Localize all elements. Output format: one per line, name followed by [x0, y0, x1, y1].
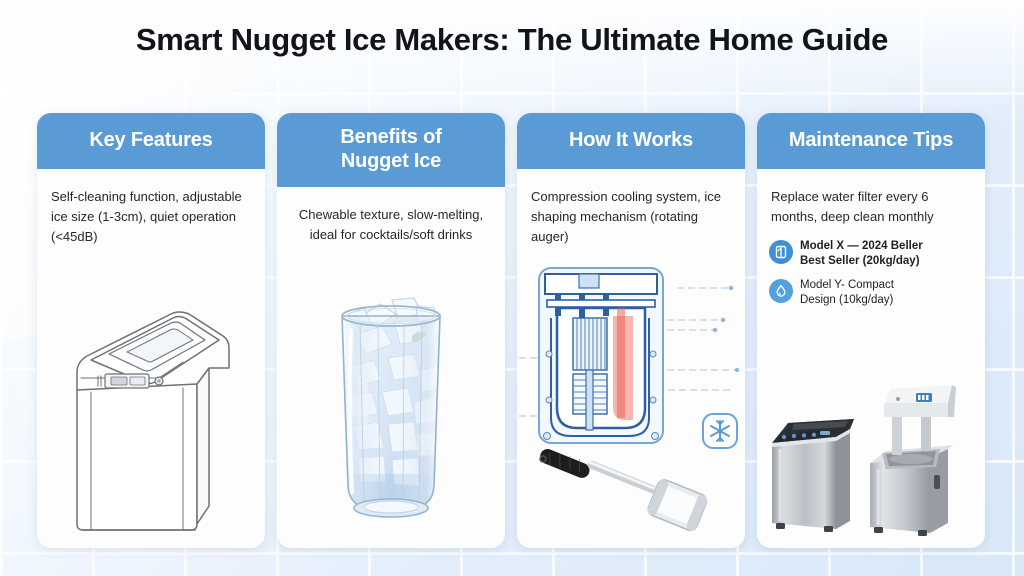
page-title: Smart Nugget Ice Makers: The Ultimate Ho… — [0, 22, 1024, 58]
model-y-text: Model Y- Compact Design (10kg/day) — [800, 278, 894, 308]
unit-model-y — [870, 385, 956, 536]
list-item[interactable]: Model Y- Compact Design (10kg/day) — [769, 278, 973, 308]
card-body-key-features: Self-cleaning function, adjustable ice s… — [37, 169, 265, 247]
model-x-line2: Best Seller (20kg/day) — [800, 255, 920, 267]
list-item[interactable]: Model X — 2024 Beller Best Seller (20kg/… — [769, 239, 973, 269]
card-how-it-works: How It Works Compression cooling system,… — [517, 113, 745, 548]
model-list: Model X — 2024 Beller Best Seller (20kg/… — [757, 227, 985, 308]
model-y-line1: Model Y- Compact — [800, 279, 894, 291]
card-key-features: Key Features Self-cleaning function, adj… — [37, 113, 265, 548]
card-benefits-of-nugget-ice: Benefits ofNugget Ice Chewable texture, … — [277, 113, 505, 548]
card-header-benefits-text: Benefits ofNugget Ice — [340, 126, 441, 173]
document-icon — [769, 240, 793, 264]
illustration-two-ice-maker-units — [757, 371, 985, 546]
illustration-ice-maker-line-art — [37, 292, 265, 542]
ice-mallet-icon — [538, 447, 709, 533]
card-body-how-it-works: Compression cooling system, ice shaping … — [517, 169, 745, 247]
illustration-glass-of-nugget-ice — [277, 274, 505, 534]
model-x-text: Model X — 2024 Beller Best Seller (20kg/… — [800, 239, 923, 269]
snowflake-icon — [703, 414, 737, 448]
card-header-how-it-works: How It Works — [517, 113, 745, 169]
background-top-fade — [0, 0, 1024, 120]
card-header-key-features: Key Features — [37, 113, 265, 169]
card-header-benefits: Benefits ofNugget Ice — [277, 113, 505, 187]
card-body-maintenance-tips: Replace water filter every 6 months, dee… — [757, 169, 985, 227]
card-body-benefits: Chewable texture, slow-melting, ideal fo… — [277, 187, 505, 245]
model-x-line1: Model X — 2024 Beller — [800, 240, 923, 252]
card-header-maintenance-tips: Maintenance Tips — [757, 113, 985, 169]
model-y-line2: Design (10kg/day) — [800, 294, 893, 306]
water-drop-icon — [769, 279, 793, 303]
illustration-blueprint-diagram — [517, 258, 745, 548]
card-maintenance-tips: Maintenance Tips Replace water filter ev… — [757, 113, 985, 548]
unit-model-x — [772, 419, 854, 532]
